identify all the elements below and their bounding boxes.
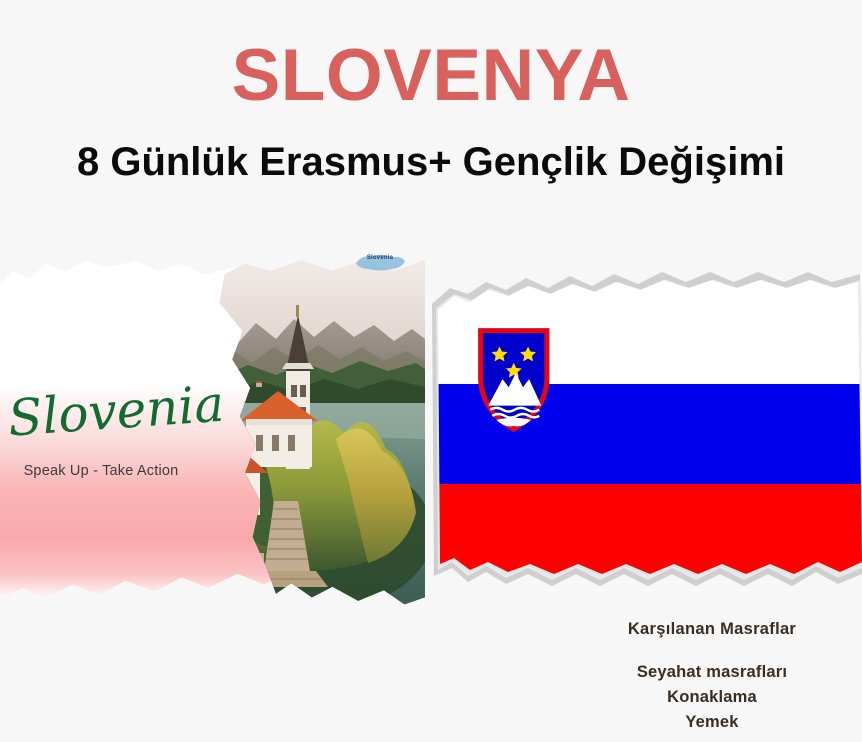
mini-map-label: Slovenia xyxy=(352,255,408,261)
headline-block: SLOVENYA 8 Günlük Erasmus+ Gençlik Değiş… xyxy=(0,0,862,215)
left-collage: Slovenia Speak Up - Take Action xyxy=(0,253,425,613)
slovenia-tagline: Speak Up - Take Action xyxy=(6,463,196,479)
covered-costs-block: Karşılanan Masraflar Seyahat masrafları … xyxy=(560,618,862,735)
list-item: Yemek xyxy=(530,710,862,735)
covered-costs-heading: Karşılanan Masraflar xyxy=(530,618,862,640)
list-item: Seyahat masrafları xyxy=(530,660,862,685)
covered-costs-list: Seyahat masrafları Konaklama Yemek xyxy=(560,660,862,735)
list-item: Konaklama xyxy=(530,685,862,710)
page-title: SLOVENYA xyxy=(0,36,862,116)
poster-canvas: SLOVENYA 8 Günlük Erasmus+ Gençlik Değiş… xyxy=(0,0,862,742)
mini-slovenia-map-icon: Slovenia xyxy=(352,252,408,274)
page-subtitle: 8 Günlük Erasmus+ Gençlik Değişimi xyxy=(0,138,862,186)
slovenia-flag-collage xyxy=(430,262,862,594)
